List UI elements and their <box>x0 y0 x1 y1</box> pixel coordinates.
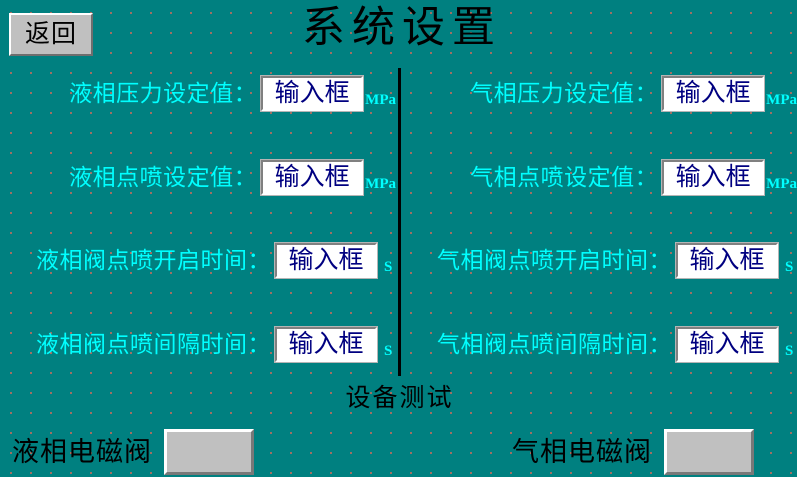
field-row-liquid-valve-open-time: 液相阀点喷开启时间： 输入框 S <box>0 242 396 278</box>
field-label: 气相阀点喷开启时间： <box>404 248 676 273</box>
field-row-gas-valve-open-time: 气相阀点喷开启时间： 输入框 S <box>404 242 797 278</box>
field-label: 气相阀点喷间隔时间： <box>404 332 676 357</box>
field-unit: S <box>778 260 797 278</box>
input-value: 输入框 <box>275 81 350 106</box>
field-unit: MPa <box>764 177 797 195</box>
input-gas-valve-interval-time[interactable]: 输入框 <box>676 327 778 362</box>
input-liquid-valve-interval-time[interactable]: 输入框 <box>275 327 377 362</box>
system-settings-screen: 返回 系统设置 液相压力设定值： 输入框 MPa 液相点喷设定值： 输入框 MP… <box>0 0 797 477</box>
device-test-gas-valve-group: 气相电磁阀 <box>512 428 754 476</box>
input-value: 输入框 <box>676 81 751 106</box>
input-value: 输入框 <box>288 248 363 273</box>
field-label: 气相点喷设定值： <box>404 165 662 190</box>
input-liquid-valve-open-time[interactable]: 输入框 <box>275 243 377 278</box>
input-liquid-spray-setpoint[interactable]: 输入框 <box>261 160 363 195</box>
input-liquid-pressure[interactable]: 输入框 <box>261 76 363 111</box>
input-gas-pressure[interactable]: 输入框 <box>662 76 764 111</box>
field-label: 液相点喷设定值： <box>0 165 261 190</box>
field-unit: S <box>778 344 797 362</box>
field-label: 液相阀点喷开启时间： <box>0 248 275 273</box>
gas-solenoid-valve-button[interactable] <box>664 429 754 475</box>
input-gas-spray-setpoint[interactable]: 输入框 <box>662 160 764 195</box>
column-divider <box>398 68 401 376</box>
field-row-gas-pressure: 气相压力设定值： 输入框 MPa <box>404 75 797 111</box>
input-value: 输入框 <box>689 332 764 357</box>
field-unit: MPa <box>764 93 797 111</box>
field-unit: S <box>377 260 396 278</box>
field-label: 液相阀点喷间隔时间： <box>0 332 275 357</box>
field-row-liquid-pressure: 液相压力设定值： 输入框 MPa <box>0 75 396 111</box>
device-test-heading: 设备测试 <box>0 385 797 413</box>
field-row-gas-spray-setpoint: 气相点喷设定值： 输入框 MPa <box>404 159 797 195</box>
field-row-liquid-spray-setpoint: 液相点喷设定值： 输入框 MPa <box>0 159 396 195</box>
liquid-solenoid-valve-button[interactable] <box>164 429 254 475</box>
field-label: 气相压力设定值： <box>404 81 662 106</box>
input-value: 输入框 <box>275 165 350 190</box>
field-unit: MPa <box>363 93 396 111</box>
field-row-gas-valve-interval-time: 气相阀点喷间隔时间： 输入框 S <box>404 326 797 362</box>
input-value: 输入框 <box>689 248 764 273</box>
input-value: 输入框 <box>676 165 751 190</box>
device-test-liquid-valve-group: 液相电磁阀 <box>12 428 254 476</box>
device-test-label: 液相电磁阀 <box>12 437 164 467</box>
field-unit: MPa <box>363 177 396 195</box>
field-row-liquid-valve-interval-time: 液相阀点喷间隔时间： 输入框 S <box>0 326 396 362</box>
input-gas-valve-open-time[interactable]: 输入框 <box>676 243 778 278</box>
page-title: 系统设置 <box>0 4 797 54</box>
input-value: 输入框 <box>288 332 363 357</box>
field-unit: S <box>377 344 396 362</box>
device-test-label: 气相电磁阀 <box>512 437 664 467</box>
field-label: 液相压力设定值： <box>0 81 261 106</box>
